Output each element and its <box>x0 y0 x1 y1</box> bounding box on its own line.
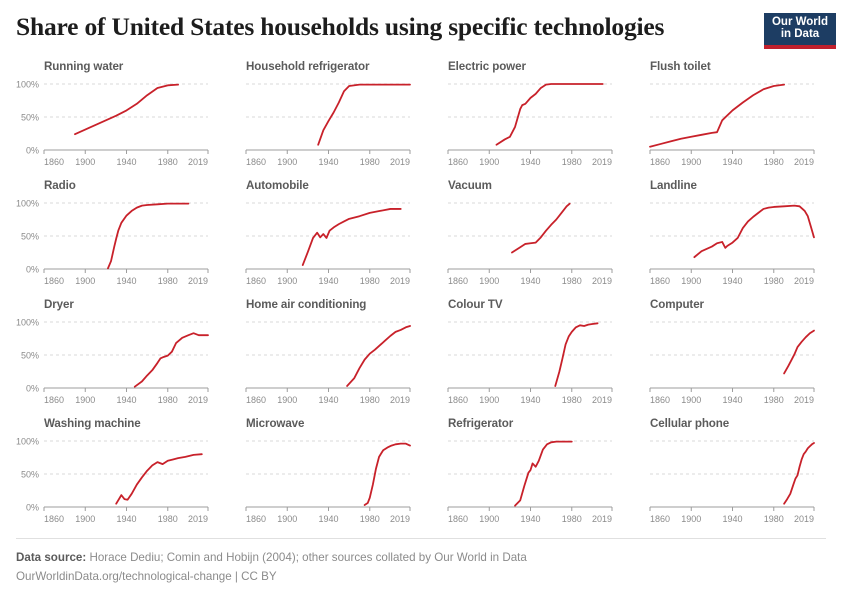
panel-title: Automobile <box>246 179 309 192</box>
x-tick-label: 1980 <box>562 157 582 167</box>
panel-title: Running water <box>44 60 123 73</box>
x-tick-label: 1940 <box>723 395 743 405</box>
x-tick-label: 2019 <box>188 395 208 405</box>
x-tick-label: 1900 <box>277 157 297 167</box>
x-tick-label: 1860 <box>448 395 468 405</box>
x-tick-label: 1940 <box>117 395 137 405</box>
x-tick-label: 1900 <box>681 395 701 405</box>
chart-panel-cellular-phone: Cellular phone18601900194019802019 <box>620 415 820 534</box>
chart-panel-dryer: Dryer0%50%100%18601900194019802019 <box>14 296 214 415</box>
panel-title: Colour TV <box>448 298 503 311</box>
x-tick-label: 1860 <box>246 157 266 167</box>
chart-page: Share of United States households using … <box>0 0 850 600</box>
x-tick-label: 1860 <box>44 157 64 167</box>
x-tick-label: 1940 <box>117 276 137 286</box>
x-tick-label: 1940 <box>521 276 541 286</box>
x-tick-label: 1860 <box>650 395 670 405</box>
y-tick-label: 0% <box>26 384 39 394</box>
x-tick-label: 1900 <box>75 514 95 524</box>
x-tick-label: 2019 <box>592 395 612 405</box>
chart-panel-home-air-conditioning: Home air conditioning1860190019401980201… <box>216 296 416 415</box>
series-line <box>135 333 208 386</box>
x-tick-label: 1900 <box>681 276 701 286</box>
chart-panel-running-water: Running water0%50%100%186019001940198020… <box>14 58 214 177</box>
chart-panel-landline: Landline18601900194019802019 <box>620 177 820 296</box>
x-tick-label: 1900 <box>75 276 95 286</box>
x-tick-label: 1940 <box>723 514 743 524</box>
license-line[interactable]: OurWorldinData.org/technological-change … <box>16 567 826 586</box>
x-tick-label: 2019 <box>592 157 612 167</box>
series-line <box>303 209 401 265</box>
y-tick-label: 100% <box>16 199 39 209</box>
x-tick-label: 1900 <box>277 276 297 286</box>
x-tick-label: 2019 <box>188 276 208 286</box>
x-tick-label: 1900 <box>479 157 499 167</box>
x-tick-label: 2019 <box>390 157 410 167</box>
series-line <box>650 85 784 147</box>
x-tick-label: 1980 <box>764 157 784 167</box>
data-source-label: Data source: <box>16 551 86 564</box>
x-tick-label: 1860 <box>246 395 266 405</box>
x-tick-label: 1900 <box>75 157 95 167</box>
panel-plot: 0%50%100%18601900194019802019 <box>14 316 214 412</box>
panel-title: Cellular phone <box>650 417 729 430</box>
panel-plot: 18601900194019802019 <box>418 197 618 293</box>
x-tick-label: 1940 <box>117 157 137 167</box>
x-tick-label: 1900 <box>479 276 499 286</box>
panel-plot: 18601900194019802019 <box>620 316 820 412</box>
x-tick-label: 1980 <box>360 395 380 405</box>
x-tick-label: 1980 <box>764 395 784 405</box>
chart-panel-vacuum: Vacuum18601900194019802019 <box>418 177 618 296</box>
x-tick-label: 1860 <box>448 514 468 524</box>
panel-plot: 18601900194019802019 <box>418 435 618 531</box>
chart-header: Share of United States households using … <box>0 0 850 58</box>
panel-title: Household refrigerator <box>246 60 369 73</box>
chart-panel-refrigerator: Refrigerator18601900194019802019 <box>418 415 618 534</box>
series-line <box>496 84 602 145</box>
panel-title: Landline <box>650 179 697 192</box>
x-tick-label: 1900 <box>277 395 297 405</box>
x-tick-label: 1980 <box>158 157 178 167</box>
series-line <box>784 443 814 504</box>
series-line <box>347 326 410 386</box>
x-tick-label: 1900 <box>681 514 701 524</box>
panel-plot: 18601900194019802019 <box>216 316 416 412</box>
data-source-text: Horace Dediu; Comin and Hobijn (2004); o… <box>89 551 526 564</box>
chart-panel-radio: Radio0%50%100%18601900194019802019 <box>14 177 214 296</box>
panel-plot: 0%50%100%18601900194019802019 <box>14 78 214 174</box>
x-tick-label: 1980 <box>562 514 582 524</box>
x-tick-label: 1940 <box>319 395 339 405</box>
x-tick-label: 1860 <box>650 157 670 167</box>
y-tick-label: 100% <box>16 318 39 328</box>
chart-panel-washing-machine: Washing machine0%50%100%1860190019401980… <box>14 415 214 534</box>
page-title: Share of United States households using … <box>16 12 664 42</box>
chart-panel-flush-toilet: Flush toilet18601900194019802019 <box>620 58 820 177</box>
x-tick-label: 2019 <box>390 514 410 524</box>
x-tick-label: 1860 <box>246 276 266 286</box>
x-tick-label: 2019 <box>390 276 410 286</box>
series-line <box>694 206 814 257</box>
panel-title: Refrigerator <box>448 417 513 430</box>
series-line <box>318 85 410 145</box>
x-tick-label: 2019 <box>188 514 208 524</box>
x-tick-label: 1900 <box>75 395 95 405</box>
chart-panel-household-refrigerator: Household refrigerator186019001940198020… <box>216 58 416 177</box>
panel-plot: 18601900194019802019 <box>620 78 820 174</box>
x-tick-label: 1860 <box>650 276 670 286</box>
panel-plot: 0%50%100%18601900194019802019 <box>14 435 214 531</box>
x-tick-label: 1980 <box>158 514 178 524</box>
x-tick-label: 1980 <box>158 395 178 405</box>
x-tick-label: 1860 <box>44 395 64 405</box>
x-tick-label: 2019 <box>592 276 612 286</box>
x-tick-label: 1940 <box>723 157 743 167</box>
footer-divider <box>16 538 826 539</box>
x-tick-label: 2019 <box>390 395 410 405</box>
x-tick-label: 1980 <box>562 276 582 286</box>
y-tick-label: 100% <box>16 437 39 447</box>
y-tick-label: 0% <box>26 503 39 513</box>
x-tick-label: 2019 <box>592 514 612 524</box>
panel-plot: 18601900194019802019 <box>216 435 416 531</box>
x-tick-label: 1980 <box>360 157 380 167</box>
x-tick-label: 1940 <box>319 157 339 167</box>
series-line <box>116 454 202 504</box>
x-tick-label: 1860 <box>448 157 468 167</box>
panel-plot: 18601900194019802019 <box>418 78 618 174</box>
x-tick-label: 1860 <box>44 276 64 286</box>
y-tick-label: 50% <box>21 113 39 123</box>
y-tick-label: 0% <box>26 146 39 156</box>
chart-panel-colour-tv: Colour TV18601900194019802019 <box>418 296 618 415</box>
x-tick-label: 1940 <box>521 395 541 405</box>
chart-panel-computer: Computer18601900194019802019 <box>620 296 820 415</box>
panel-title: Radio <box>44 179 76 192</box>
panel-title: Home air conditioning <box>246 298 366 311</box>
y-tick-label: 50% <box>21 351 39 361</box>
series-line <box>784 331 814 374</box>
series-line <box>75 85 178 135</box>
panel-title: Computer <box>650 298 704 311</box>
x-tick-label: 2019 <box>188 157 208 167</box>
panel-title: Flush toilet <box>650 60 711 73</box>
chart-footer: Data source: Horace Dediu; Comin and Hob… <box>16 538 826 586</box>
y-tick-label: 50% <box>21 470 39 480</box>
small-multiples-grid: Running water0%50%100%186019001940198020… <box>14 58 838 536</box>
logo-line-1: Our World <box>772 17 828 29</box>
x-tick-label: 1980 <box>764 276 784 286</box>
panel-title: Microwave <box>246 417 304 430</box>
y-tick-label: 50% <box>21 232 39 242</box>
series-line <box>512 204 570 253</box>
x-tick-label: 1860 <box>448 276 468 286</box>
x-tick-label: 1900 <box>479 514 499 524</box>
panel-title: Washing machine <box>44 417 141 430</box>
x-tick-label: 1980 <box>360 514 380 524</box>
logo-line-2: in Data <box>781 29 819 41</box>
panel-title: Dryer <box>44 298 74 311</box>
x-tick-label: 1860 <box>650 514 670 524</box>
x-tick-label: 1940 <box>319 514 339 524</box>
panel-plot: 18601900194019802019 <box>418 316 618 412</box>
chart-panel-automobile: Automobile18601900194019802019 <box>216 177 416 296</box>
x-tick-label: 2019 <box>794 157 814 167</box>
panel-plot: 18601900194019802019 <box>620 435 820 531</box>
x-tick-label: 1980 <box>764 514 784 524</box>
x-tick-label: 1940 <box>319 276 339 286</box>
x-tick-label: 2019 <box>794 276 814 286</box>
x-tick-label: 2019 <box>794 514 814 524</box>
x-tick-label: 1940 <box>521 157 541 167</box>
panel-plot: 18601900194019802019 <box>216 78 416 174</box>
panel-plot: 18601900194019802019 <box>620 197 820 293</box>
x-tick-label: 1940 <box>723 276 743 286</box>
x-tick-label: 1900 <box>681 157 701 167</box>
panel-plot: 18601900194019802019 <box>216 197 416 293</box>
x-tick-label: 1940 <box>521 514 541 524</box>
x-tick-label: 1900 <box>277 514 297 524</box>
x-tick-label: 1980 <box>158 276 178 286</box>
our-world-in-data-logo[interactable]: Our World in Data <box>764 13 836 49</box>
y-tick-label: 100% <box>16 80 39 90</box>
x-tick-label: 1860 <box>44 514 64 524</box>
chart-panel-electric-power: Electric power18601900194019802019 <box>418 58 618 177</box>
panel-title: Electric power <box>448 60 526 73</box>
x-tick-label: 1860 <box>246 514 266 524</box>
panel-plot: 0%50%100%18601900194019802019 <box>14 197 214 293</box>
y-tick-label: 0% <box>26 265 39 275</box>
x-tick-label: 1980 <box>562 395 582 405</box>
panel-title: Vacuum <box>448 179 492 192</box>
x-tick-label: 1940 <box>117 514 137 524</box>
x-tick-label: 2019 <box>794 395 814 405</box>
x-tick-label: 1980 <box>360 276 380 286</box>
chart-panel-microwave: Microwave18601900194019802019 <box>216 415 416 534</box>
data-source-line: Data source: Horace Dediu; Comin and Hob… <box>16 548 826 567</box>
x-tick-label: 1900 <box>479 395 499 405</box>
